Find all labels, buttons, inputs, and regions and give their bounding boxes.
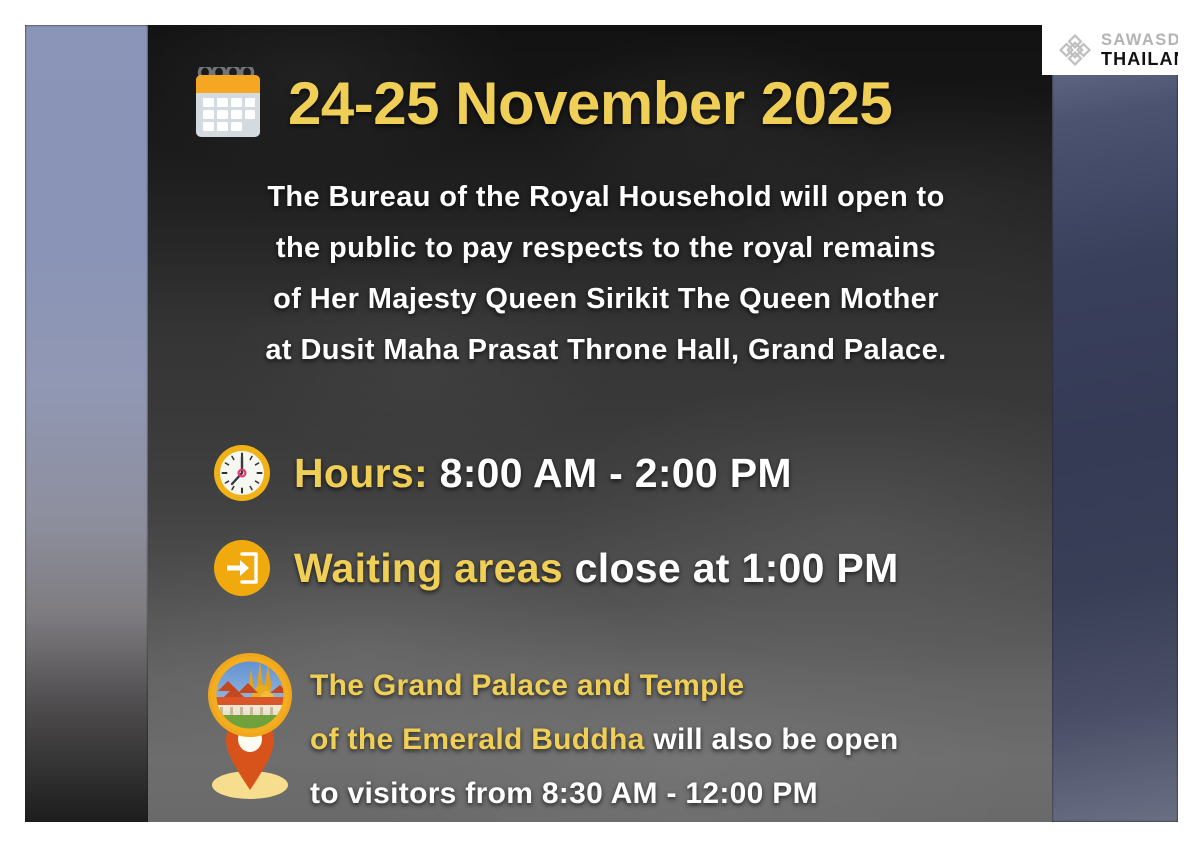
map-pin-photo-icon <box>204 645 296 805</box>
headline-row: 24-25 November 2025 <box>194 67 892 139</box>
announcement-content: 24-25 November 2025 The Bureau of the Ro… <box>148 25 1052 822</box>
paragraph-line-2: the public to pay respects to the royal … <box>194 223 1018 274</box>
headline-date: 24-25 November 2025 <box>288 69 892 138</box>
right-gradient-band <box>1052 25 1178 822</box>
diamond-rosette-icon <box>1058 33 1092 67</box>
palace-line-1: The Grand Palace and Temple <box>310 659 898 713</box>
palace-line-1-yellow: The Grand Palace and Temple <box>310 669 744 702</box>
palace-line-3-prefix: to visitors from <box>310 777 533 810</box>
waiting-line: Waiting areas close at 1:00 PM <box>294 545 899 592</box>
content-panel: 24-25 November 2025 The Bureau of the Ro… <box>148 25 1052 822</box>
brand-logo: SAWASDEE THAILAND <box>1042 25 1178 75</box>
clock-icon <box>212 443 272 503</box>
paragraph-line-4: at Dusit Maha Prasat Throne Hall, Grand … <box>194 325 1018 376</box>
paragraph-line-1: The Bureau of the Royal Household will o… <box>194 172 1018 223</box>
palace-row: The Grand Palace and Temple of the Emera… <box>204 645 898 821</box>
logo-text: SAWASDEE THAILAND <box>1101 32 1178 68</box>
logo-line-sawasdee: SAWASDEE <box>1101 32 1178 49</box>
palace-line-2-yellow: of the Emerald Buddha <box>310 723 645 756</box>
hours-value: 8:00 AM - 2:00 PM <box>440 450 792 496</box>
palace-line-3-time: 8:30 AM - 12:00 PM <box>542 777 818 810</box>
page-canvas: 24-25 November 2025 The Bureau of the Ro… <box>0 0 1200 851</box>
left-gradient-band <box>25 25 148 822</box>
palace-text-block: The Grand Palace and Temple of the Emera… <box>310 645 898 821</box>
paragraph-line-3: of Her Majesty Queen Sirikit The Queen M… <box>194 274 1018 325</box>
hours-line: Hours: 8:00 AM - 2:00 PM <box>294 450 792 497</box>
hours-label: Hours: <box>294 450 428 496</box>
announcement-graphic: 24-25 November 2025 The Bureau of the Ro… <box>25 25 1178 822</box>
palace-line-2-white: will also be open <box>653 723 898 756</box>
waiting-time: 1:00 PM <box>741 545 898 591</box>
palace-line-3: to visitors from 8:30 AM - 12:00 PM <box>310 767 898 821</box>
hours-row: Hours: 8:00 AM - 2:00 PM <box>212 443 792 503</box>
palace-line-2: of the Emerald Buddha will also be open <box>310 713 898 767</box>
announcement-paragraph: The Bureau of the Royal Household will o… <box>194 172 1018 376</box>
waiting-areas-row: Waiting areas close at 1:00 PM <box>212 538 899 598</box>
waiting-label: Waiting areas <box>294 545 563 591</box>
exit-door-icon <box>212 538 272 598</box>
waiting-prefix: close at <box>575 545 730 591</box>
calendar-icon <box>194 67 262 139</box>
logo-line-thailand: THAILAND <box>1101 50 1178 68</box>
